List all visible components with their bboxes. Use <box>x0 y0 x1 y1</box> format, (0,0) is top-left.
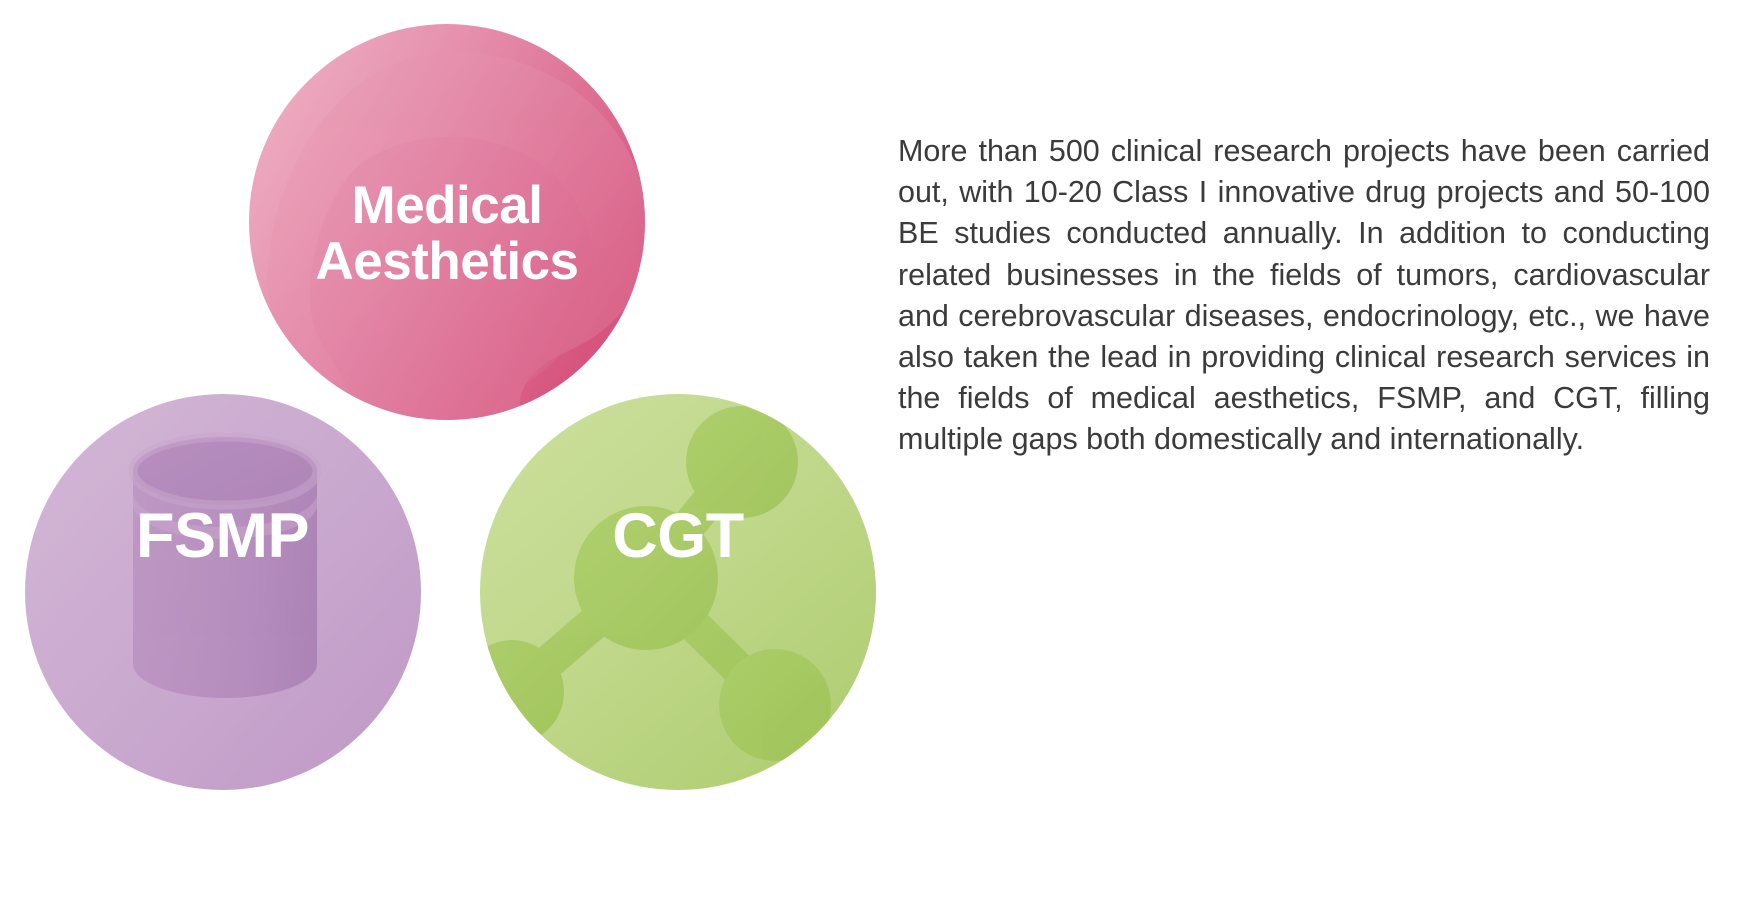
description-paragraph: More than 500 clinical research projects… <box>898 131 1710 461</box>
venn-svg <box>0 0 900 919</box>
page-root: Medical Aesthetics FSMP CGT More than 50… <box>0 0 1760 919</box>
description-block: More than 500 clinical research projects… <box>898 131 1710 461</box>
venn-circle-fsmp <box>25 394 421 790</box>
venn-diagram: Medical Aesthetics FSMP CGT <box>0 0 900 919</box>
venn-circle-cgt <box>460 394 876 790</box>
cylinder-can-icon <box>133 437 317 698</box>
